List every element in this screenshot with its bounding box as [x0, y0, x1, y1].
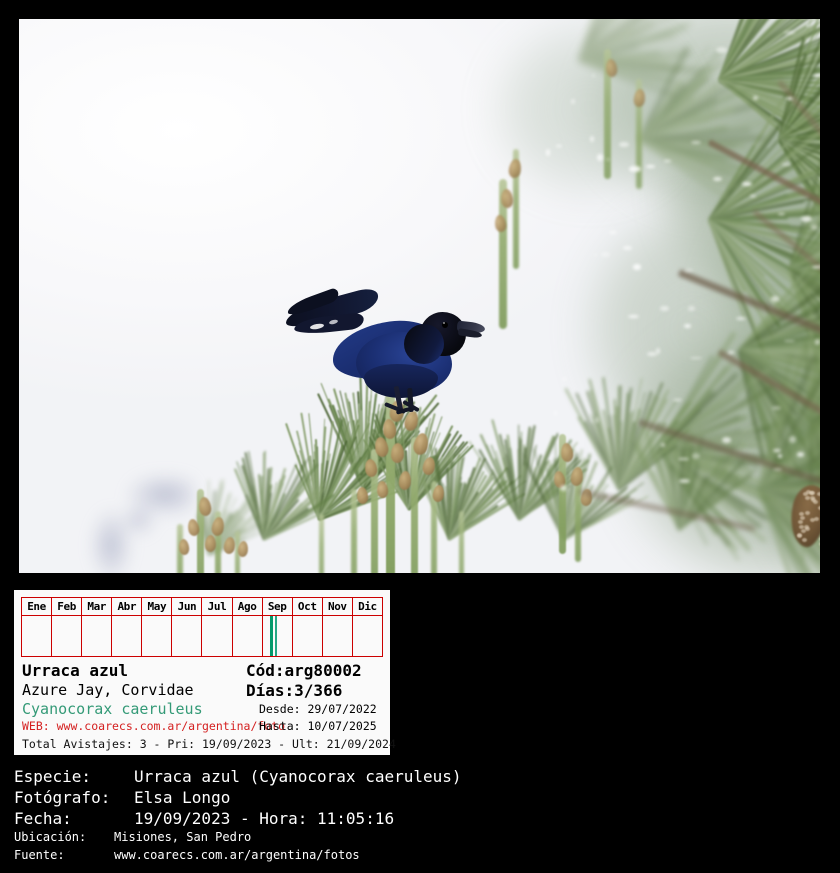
sky-gap-highlight: [753, 96, 757, 101]
calendar-month-sep: Sep: [262, 598, 292, 616]
footer-label: Ubicación:: [14, 830, 114, 845]
sky-gap-highlight: [628, 315, 638, 318]
sky-gap-highlight: [684, 324, 691, 328]
sky-gap-highlight: [607, 489, 615, 491]
sky-gap-highlight: [713, 177, 723, 181]
photo-canvas: [19, 19, 820, 573]
pine-cone-scale: [818, 506, 820, 510]
calendar-cell-nov: [322, 616, 352, 657]
sky-gap-highlight: [778, 454, 781, 458]
sky-gap-highlight: [811, 225, 818, 230]
footer-value: Misiones, San Pedro: [114, 830, 251, 844]
footer-label: Especie:: [14, 766, 134, 787]
sky-gap-highlight: [771, 296, 779, 301]
sky-gap-highlight: [813, 74, 820, 77]
footer-value: Urraca azul (Cyanocorax caeruleus): [134, 767, 462, 786]
calendar-cell-jul: [202, 616, 232, 657]
sky-gap-highlight: [690, 357, 702, 359]
sighting-marker-secondary: [275, 616, 277, 656]
calendar-month-may: May: [142, 598, 172, 616]
calendar-cell-mar: [82, 616, 112, 657]
pine-cone-scale: [810, 518, 815, 522]
sky-gap-highlight: [782, 163, 791, 167]
calendar-cell-oct: [292, 616, 322, 657]
calendar-body-row: [22, 616, 383, 657]
calendar-cell-may: [142, 616, 172, 657]
footer-value[interactable]: www.coarecs.com.ar/argentina/fotos: [114, 848, 360, 862]
calendar-cell-ene: [22, 616, 52, 657]
pine-candle: [459, 511, 464, 573]
common-name: Urraca azul: [22, 662, 128, 679]
pine-catkin: [205, 535, 217, 552]
sky-gap-highlight: [595, 417, 599, 423]
sky-gap-highlight: [797, 452, 804, 456]
footer-row-fecha: Fecha:19/09/2023 - Hora: 11:05:16: [14, 808, 394, 829]
sky-gap-highlight: [789, 436, 796, 443]
sky-gap-highlight: [623, 246, 632, 250]
calendar-month-jul: Jul: [202, 598, 232, 616]
sky-gap-highlight: [597, 154, 603, 161]
sky-gap-highlight: [722, 437, 731, 443]
sighting-marker: [270, 616, 273, 656]
sky-gap-highlight: [593, 254, 598, 256]
bird-photo: [19, 19, 820, 573]
sky-gap-highlight: [784, 31, 795, 33]
photo-metadata-footer: Especie:Urraca azul (Cyanocorax caeruleu…: [14, 766, 826, 866]
footer-value: Elsa Longo: [134, 788, 230, 807]
sky-gap-highlight: [661, 443, 665, 447]
date-to: Hasta: 10/07/2025: [259, 720, 377, 733]
english-name: Azure Jay, Corvidae: [22, 682, 194, 698]
bird-belly: [364, 364, 438, 398]
calendar-cell-sep: [262, 616, 292, 657]
footer-row-fotgrafo: Fotógrafo:Elsa Longo: [14, 787, 230, 808]
footer-label: Fuente:: [14, 848, 114, 863]
species-code: Cód:arg80002: [246, 662, 362, 679]
sky-gap-highlight: [590, 136, 593, 142]
footer-row-ubicacin: Ubicación:Misiones, San Pedro: [14, 830, 251, 845]
sky-gap-highlight: [646, 165, 655, 167]
month-presence-calendar: EneFebMarAbrMayJunJulAgoSepOctNovDic: [21, 597, 383, 659]
days-count: Días:3/366: [246, 682, 342, 699]
calendar-month-oct: Oct: [292, 598, 322, 616]
calendar-header-row: EneFebMarAbrMayJunJulAgoSepOctNovDic: [22, 598, 383, 616]
pine-cone-scale: [819, 537, 820, 541]
sky-gap-highlight: [773, 449, 781, 453]
bird-nape: [404, 324, 444, 364]
pine-candle: [319, 514, 324, 573]
calendar-month-dic: Dic: [352, 598, 382, 616]
sky-gap-highlight: [742, 182, 752, 186]
sky-gap-highlight: [629, 166, 641, 172]
bird-eye-highlight: [443, 322, 445, 324]
calendar-cell-jun: [172, 616, 202, 657]
calendar-month-abr: Abr: [112, 598, 142, 616]
footer-row-especie: Especie:Urraca azul (Cyanocorax caeruleu…: [14, 766, 462, 787]
pine-cone-scale: [819, 542, 820, 546]
pine-candle: [411, 437, 418, 573]
calendar-month-mar: Mar: [82, 598, 112, 616]
pine-candle: [351, 489, 357, 573]
web-link[interactable]: WEB: www.coarecs.com.ar/argentina/foto: [22, 720, 285, 733]
sky-gap-highlight: [750, 195, 756, 197]
sky-gap-highlight: [801, 216, 812, 222]
sky-gap-highlight: [619, 142, 629, 146]
pine-cone-scale: [817, 492, 821, 496]
pine-catkin: [391, 443, 405, 463]
sky-gap-highlight: [546, 149, 550, 156]
calendar-month-feb: Feb: [52, 598, 82, 616]
sky-gap-highlight: [562, 377, 566, 381]
footer-row-fuente: Fuente:www.coarecs.com.ar/argentina/foto…: [14, 848, 360, 863]
footer-label: Fotógrafo:: [14, 787, 134, 808]
sky-gap-highlight: [815, 339, 820, 345]
sky-gap-highlight: [592, 74, 595, 77]
pine-cone-scale: [805, 496, 810, 500]
calendar-month-jun: Jun: [172, 598, 202, 616]
calendar-month-ago: Ago: [232, 598, 262, 616]
sky-gap-highlight: [647, 352, 657, 356]
calendar-month-ene: Ene: [22, 598, 52, 616]
sky-gap-highlight: [633, 264, 641, 270]
sky-gap-highlight: [716, 47, 727, 53]
sky-gap-highlight: [787, 97, 793, 100]
calendar-cell-abr: [112, 616, 142, 657]
calendar-cell-dic: [352, 616, 382, 657]
pine-cone-scale: [805, 527, 810, 531]
calendar-cell-ago: [232, 616, 262, 657]
totals-line: Total Avistajes: 3 - Pri: 19/09/2023 - U…: [22, 738, 396, 751]
pine-cone-scale: [797, 534, 802, 538]
calendar-cell-feb: [52, 616, 82, 657]
calendar-table: EneFebMarAbrMayJunJulAgoSepOctNovDic: [21, 597, 383, 657]
sky-gap-highlight: [660, 306, 669, 311]
azure-jay-bird: [284, 294, 474, 419]
species-data-panel: EneFebMarAbrMayJunJulAgoSepOctNovDic Urr…: [14, 590, 390, 755]
scientific-name: Cyanocorax caeruleus: [22, 701, 203, 717]
sky-gap-highlight: [773, 468, 782, 471]
footer-value: 19/09/2023 - Hora: 11:05:16: [134, 809, 394, 828]
date-from: Desde: 29/07/2022: [259, 703, 377, 716]
sky-gap-highlight: [560, 485, 566, 492]
footer-label: Fecha:: [14, 808, 134, 829]
species-info-block: Urraca azul Azure Jay, Corvidae Cyanocor…: [22, 662, 384, 750]
calendar-month-nov: Nov: [322, 598, 352, 616]
